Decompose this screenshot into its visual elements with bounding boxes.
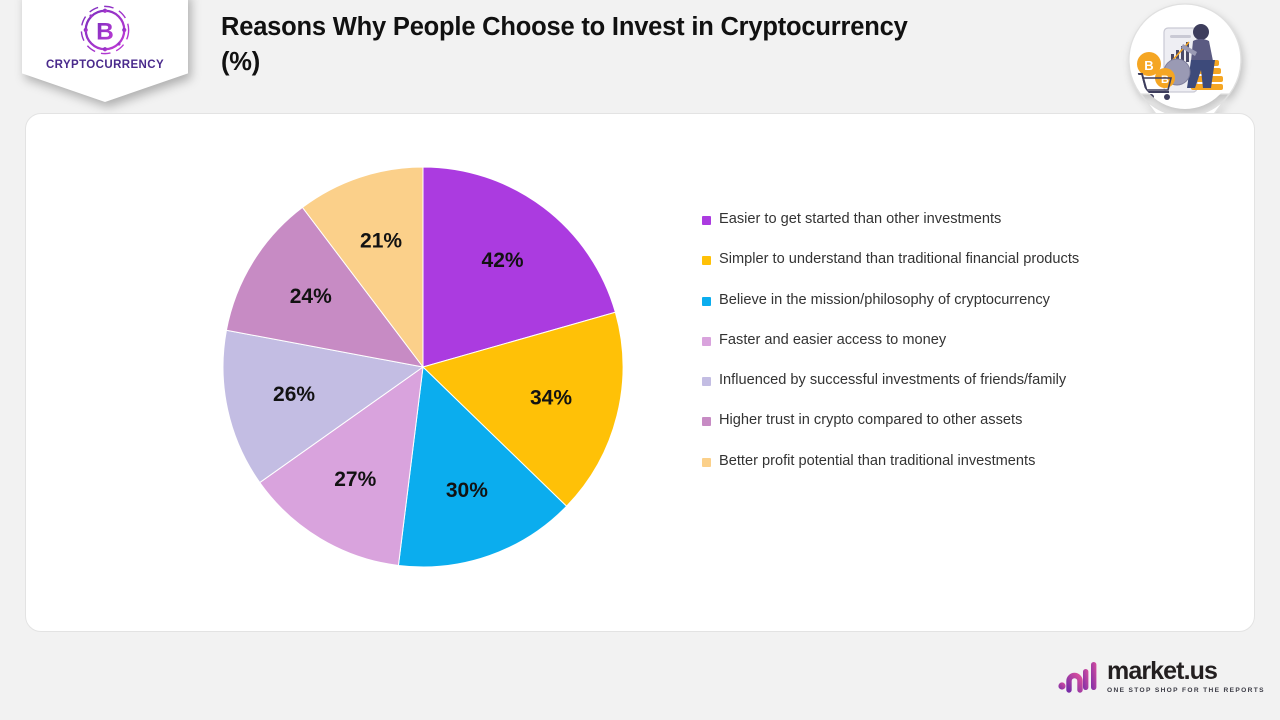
pie-slice-label: 30% xyxy=(446,479,488,502)
market-us-brand: market.us xyxy=(1107,659,1265,684)
legend-swatch-icon xyxy=(702,458,711,467)
pie-slice-label: 42% xyxy=(482,249,524,272)
legend-swatch-icon xyxy=(702,417,711,426)
brand-name: CRYPTOCURRENCY xyxy=(46,59,164,71)
legend-swatch-icon xyxy=(702,297,711,306)
pie-slice-label: 27% xyxy=(334,468,376,491)
pie-slice-label: 21% xyxy=(360,229,402,252)
legend-swatch-icon xyxy=(702,216,711,225)
legend-item[interactable]: Higher trust in crypto compared to other… xyxy=(702,411,1172,430)
slide-root: B CRYPTOCURRENCY Reasons Why People Choo… xyxy=(0,0,1280,720)
market-us-logo: market.us ONE STOP SHOP FOR THE REPORTS xyxy=(1058,652,1258,700)
pie-slice-label: 24% xyxy=(290,285,332,308)
pie-slice-group xyxy=(223,167,623,567)
legend-item[interactable]: Better profit potential than traditional… xyxy=(702,452,1172,471)
legend-label: Influenced by successful investments of … xyxy=(719,371,1066,390)
legend-label: Faster and easier access to money xyxy=(719,331,946,350)
legend-item[interactable]: Easier to get started than other investm… xyxy=(702,210,1172,229)
market-us-bars-icon xyxy=(1058,659,1100,693)
bitcoin-circle-icon: B xyxy=(77,2,133,58)
chart-legend: Easier to get started than other investm… xyxy=(702,210,1172,492)
market-us-tagline: ONE STOP SHOP FOR THE REPORTS xyxy=(1107,687,1265,694)
pie-chart-svg: 42%34%30%27%26%24%21% xyxy=(208,152,638,582)
legend-item[interactable]: Faster and easier access to money xyxy=(702,331,1172,350)
legend-item[interactable]: Believe in the mission/philosophy of cry… xyxy=(702,291,1172,310)
legend-item[interactable]: Influenced by successful investments of … xyxy=(702,371,1172,390)
page-title: Reasons Why People Choose to Invest in C… xyxy=(221,10,921,80)
legend-label: Simpler to understand than traditional f… xyxy=(719,250,1079,269)
pie-slice-label: 26% xyxy=(273,383,315,406)
legend-label: Believe in the mission/philosophy of cry… xyxy=(719,291,1050,310)
legend-item[interactable]: Simpler to understand than traditional f… xyxy=(702,250,1172,269)
svg-text:B: B xyxy=(1144,58,1153,73)
pie-slice-label: 34% xyxy=(530,387,572,410)
legend-label: Higher trust in crypto compared to other… xyxy=(719,411,1022,430)
brand-pin: B CRYPTOCURRENCY xyxy=(22,0,188,102)
legend-label: Easier to get started than other investm… xyxy=(719,210,1001,229)
pie-chart: 42%34%30%27%26%24%21% xyxy=(208,152,638,582)
legend-swatch-icon xyxy=(702,337,711,346)
market-us-wordmark: market.us ONE STOP SHOP FOR THE REPORTS xyxy=(1107,659,1265,694)
legend-swatch-icon xyxy=(702,256,711,265)
svg-text:B: B xyxy=(96,19,114,46)
brand-pin-content: B CRYPTOCURRENCY xyxy=(22,0,188,102)
svg-text:B: B xyxy=(1161,74,1169,86)
legend-swatch-icon xyxy=(702,377,711,386)
legend-label: Better profit potential than traditional… xyxy=(719,452,1035,471)
